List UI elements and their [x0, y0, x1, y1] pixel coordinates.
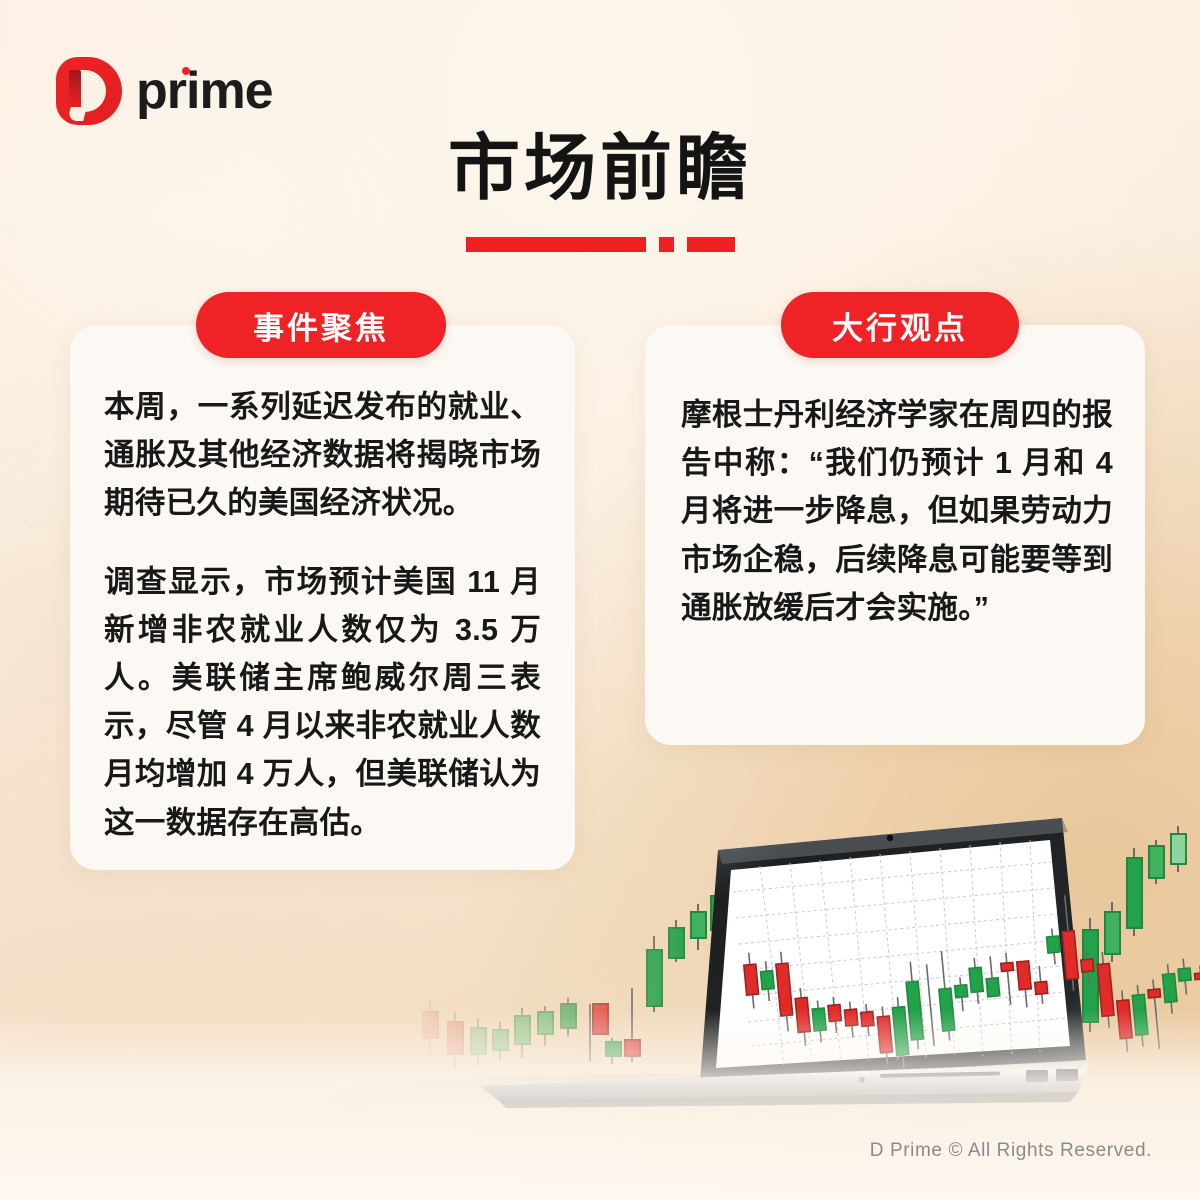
pill-bank-views-label: 大行观点: [832, 303, 968, 348]
brand-wordmark-text: prime: [136, 62, 273, 120]
card-bank-views: 大行观点 摩根士丹利经济学家在周四的报告中称：“我们仍预计 1 月和 4 月将进…: [645, 325, 1145, 745]
d-monogram-icon: [56, 57, 122, 125]
divider-segment-mid: [687, 237, 735, 252]
footer-copyright: D Prime © All Rights Reserved.: [870, 1140, 1152, 1162]
card-event-focus-body: 本周，一系列延迟发布的就业、通胀及其他经济数据将揭晓市场期待已久的美国经济状况。…: [70, 325, 575, 847]
paragraph: 摩根士丹利经济学家在周四的报告中称：“我们仍预计 1 月和 4 月将进一步降息，…: [681, 391, 1113, 632]
title-divider: [0, 237, 1200, 252]
divider-segment-long: [466, 237, 646, 252]
paragraph: 本周，一系列延迟发布的就业、通胀及其他经济数据将揭晓市场期待已久的美国经济状况。: [104, 383, 541, 528]
page-title: 市场前瞻: [0, 133, 1200, 205]
pill-bank-views: 大行观点: [781, 292, 1019, 358]
brand-wordmark: prime: [136, 65, 273, 117]
pill-event-focus: 事件聚焦: [196, 292, 446, 358]
pill-event-focus-label: 事件聚焦: [253, 303, 389, 348]
divider-segment-dot: [659, 237, 674, 252]
logo-dot-icon: [182, 67, 190, 75]
card-bank-views-body: 摩根士丹利经济学家在周四的报告中称：“我们仍预计 1 月和 4 月将进一步降息，…: [645, 325, 1145, 632]
title-block: 市场前瞻: [0, 133, 1200, 252]
brand-logo[interactable]: prime: [56, 57, 273, 125]
card-event-focus: 事件聚焦 本周，一系列延迟发布的就业、通胀及其他经济数据将揭晓市场期待已久的美国…: [70, 325, 575, 870]
bottom-fade: [0, 1010, 1200, 1200]
paragraph: 调查显示，市场预计美国 11 月新增非农就业人数仅为 3.5 万人。美联储主席鲍…: [104, 558, 541, 847]
